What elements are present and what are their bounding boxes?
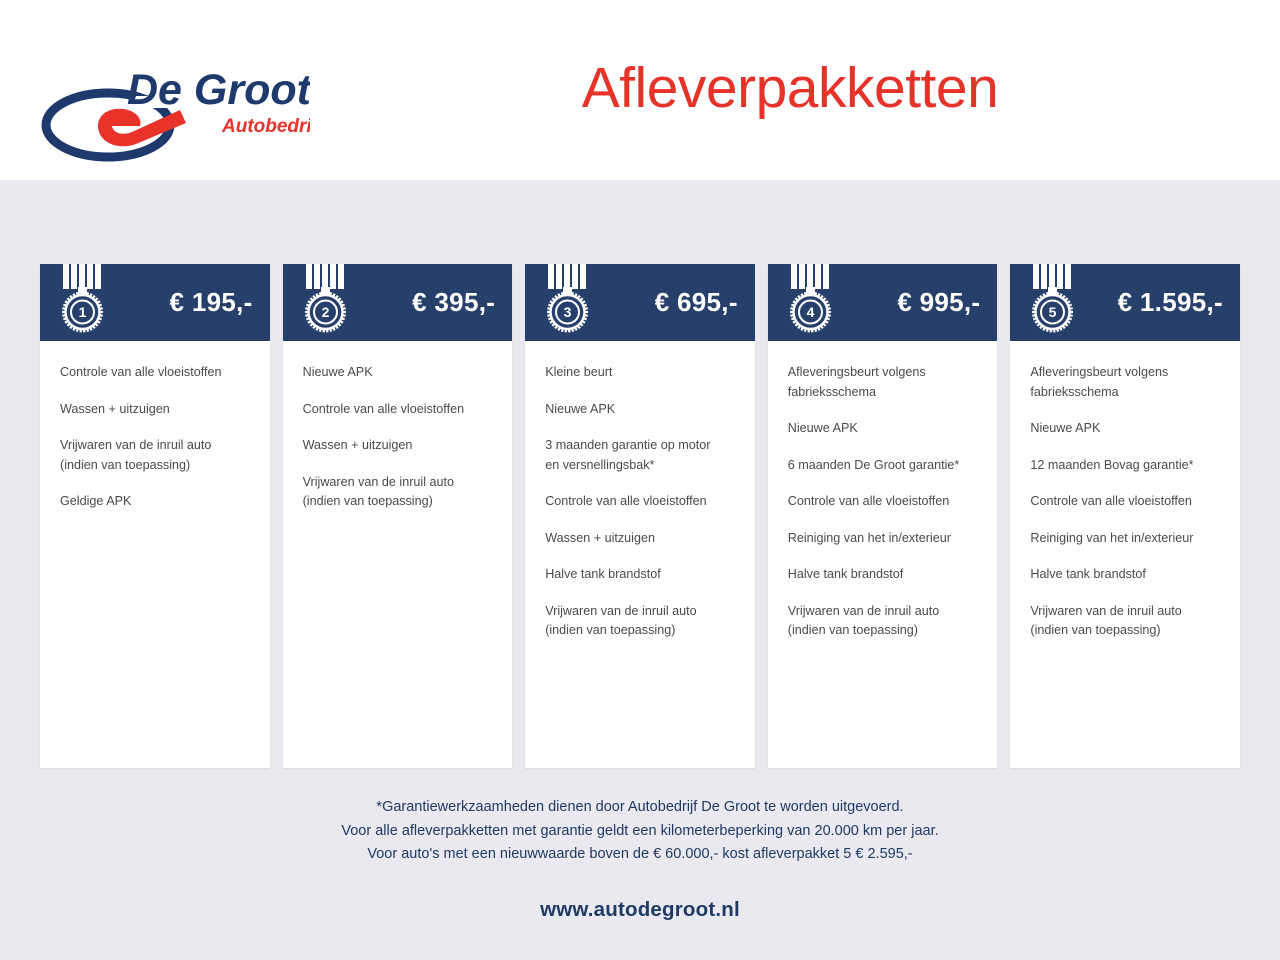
package-card[interactable]: 3€ 695,-Kleine beurtNieuwe APK3 maanden …: [525, 264, 755, 768]
medal-icon: 2: [298, 264, 354, 341]
package-feature-item: Controle van alle vloeistoffen: [545, 492, 735, 512]
package-card-header: 5€ 1.595,-: [1010, 264, 1240, 341]
package-card-header: 3€ 695,-: [525, 264, 755, 341]
package-feature-item: Wassen + uitzuigen: [545, 529, 735, 549]
package-feature-item: Afleveringsbeurt volgens fabrieksschema: [788, 363, 978, 402]
package-feature-item: Geldige APK: [60, 492, 250, 512]
svg-text:1: 1: [79, 304, 87, 320]
package-feature-item: Halve tank brandstof: [788, 565, 978, 585]
package-feature-item: 3 maanden garantie op motor en versnelli…: [545, 436, 735, 475]
svg-text:3: 3: [564, 304, 572, 320]
package-feature-item: Wassen + uitzuigen: [60, 400, 250, 420]
footer-line: *Garantiewerkzaamheden dienen door Autob…: [0, 796, 1280, 820]
package-card-header: 2€ 395,-: [283, 264, 513, 341]
package-feature-item: Nieuwe APK: [1030, 419, 1220, 439]
package-card[interactable]: 2€ 395,-Nieuwe APKControle van alle vloe…: [283, 264, 513, 768]
package-feature-item: Reiniging van het in/exterieur: [1030, 529, 1220, 549]
package-feature-item: Kleine beurt: [545, 363, 735, 383]
package-price: € 195,-: [170, 287, 253, 318]
package-feature-item: Nieuwe APK: [788, 419, 978, 439]
package-feature-item: Halve tank brandstof: [1030, 565, 1220, 585]
medal-icon: 1: [55, 264, 111, 341]
package-card-header: 4€ 995,-: [768, 264, 998, 341]
package-feature-item: Wassen + uitzuigen: [303, 436, 493, 456]
package-feature-item: Reiniging van het in/exterieur: [788, 529, 978, 549]
company-logo[interactable]: De Groot Autobedrijf: [40, 62, 310, 167]
footer-disclaimer: *Garantiewerkzaamheden dienen door Autob…: [0, 796, 1280, 867]
package-price: € 695,-: [655, 287, 738, 318]
package-price: € 995,-: [897, 287, 980, 318]
package-feature-item: Halve tank brandstof: [545, 565, 735, 585]
header-band: De Groot Autobedrijf Afleverpakketten: [0, 0, 1280, 180]
logo-subtitle-text: Autobedrijf: [221, 116, 310, 137]
package-feature-item: Afleveringsbeurt volgens fabrieksschema: [1030, 363, 1220, 402]
package-feature-item: Vrijwaren van de inruil auto (indien van…: [788, 602, 978, 641]
svg-text:5: 5: [1049, 304, 1057, 320]
package-feature-list: Controle van alle vloeistoffenWassen + u…: [40, 341, 270, 768]
page-title: Afleverpakketten: [340, 57, 1240, 120]
medal-icon: 3: [540, 264, 596, 341]
package-feature-item: Vrijwaren van de inruil auto (indien van…: [303, 473, 493, 512]
package-feature-list: Afleveringsbeurt volgens fabrieksschemaN…: [1010, 341, 1240, 768]
package-feature-item: Controle van alle vloeistoffen: [788, 492, 978, 512]
package-feature-item: Nieuwe APK: [545, 400, 735, 420]
package-feature-item: Vrijwaren van de inruil auto (indien van…: [60, 436, 250, 475]
package-feature-item: Controle van alle vloeistoffen: [303, 400, 493, 420]
logo-brand-text: De Groot: [127, 66, 310, 114]
footer: *Garantiewerkzaamheden dienen door Autob…: [0, 796, 1280, 922]
package-feature-item: 12 maanden Bovag garantie*: [1030, 456, 1220, 476]
package-feature-item: Vrijwaren van de inruil auto (indien van…: [1030, 602, 1220, 641]
package-price: € 1.595,-: [1118, 287, 1223, 318]
medal-icon: 5: [1025, 264, 1081, 341]
package-feature-item: 6 maanden De Groot garantie*: [788, 456, 978, 476]
package-card-header: 1€ 195,-: [40, 264, 270, 341]
package-feature-item: Controle van alle vloeistoffen: [1030, 492, 1220, 512]
package-card[interactable]: 5€ 1.595,-Afleveringsbeurt volgens fabri…: [1010, 264, 1240, 768]
svg-text:4: 4: [806, 304, 814, 320]
footer-line: Voor auto's met een nieuwwaarde boven de…: [0, 843, 1280, 867]
website-link[interactable]: www.autodegroot.nl: [0, 898, 1280, 922]
medal-icon: 4: [783, 264, 839, 341]
package-card[interactable]: 1€ 195,-Controle van alle vloeistoffenWa…: [40, 264, 270, 768]
de-groot-swoosh-logo: De Groot Autobedrijf: [40, 62, 310, 167]
package-feature-list: Nieuwe APKControle van alle vloeistoffen…: [283, 341, 513, 768]
package-feature-item: Controle van alle vloeistoffen: [60, 363, 250, 383]
footer-line: Voor alle afleverpakketten met garantie …: [0, 820, 1280, 844]
package-card-list: 1€ 195,-Controle van alle vloeistoffenWa…: [40, 264, 1240, 768]
package-card[interactable]: 4€ 995,-Afleveringsbeurt volgens fabriek…: [768, 264, 998, 768]
package-feature-item: Vrijwaren van de inruil auto (indien van…: [545, 602, 735, 641]
package-feature-list: Afleveringsbeurt volgens fabrieksschemaN…: [768, 341, 998, 768]
package-feature-list: Kleine beurtNieuwe APK3 maanden garantie…: [525, 341, 755, 768]
package-price: € 395,-: [412, 287, 495, 318]
svg-text:2: 2: [321, 304, 329, 320]
package-feature-item: Nieuwe APK: [303, 363, 493, 383]
